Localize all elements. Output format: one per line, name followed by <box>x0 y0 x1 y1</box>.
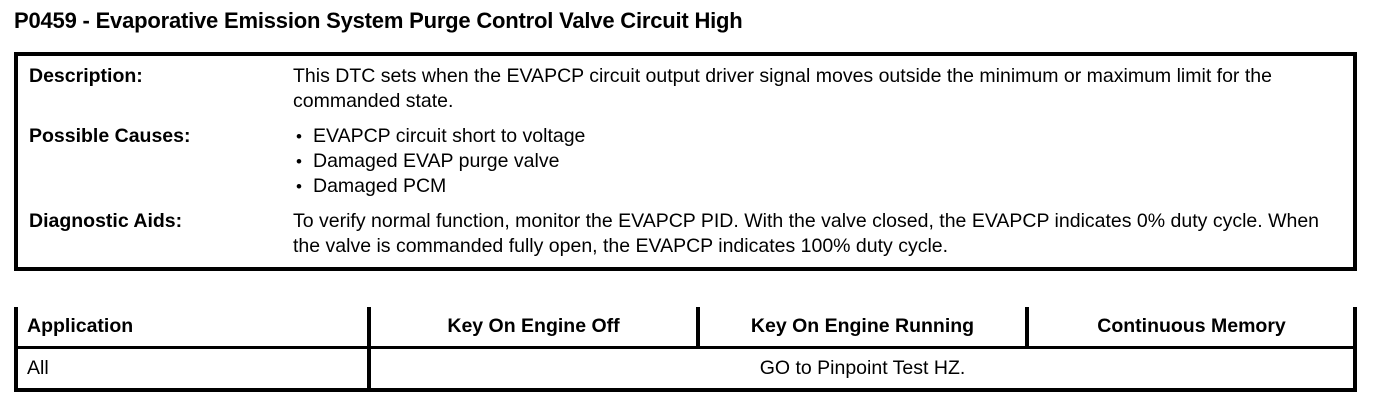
list-item: Damaged PCM <box>293 174 1337 199</box>
dtc-document-page: P0459 - Evaporative Emission System Purg… <box>0 0 1392 406</box>
description-label: Description: <box>18 64 293 89</box>
possible-causes-content: EVAPCP circuit short to voltage Damaged … <box>293 124 1353 199</box>
description-content: This DTC sets when the EVAPCP circuit ou… <box>293 64 1353 114</box>
dtc-info-box: Description: This DTC sets when the EVAP… <box>14 52 1357 271</box>
application-table-box: Application Key On Engine Off Key On Eng… <box>14 307 1357 392</box>
cell-result: GO to Pinpoint Test HZ. <box>369 348 1354 389</box>
column-header-continuous-memory: Continuous Memory <box>1027 307 1354 348</box>
diagnostic-aids-content: To verify normal function, monitor the E… <box>293 209 1353 259</box>
possible-causes-list: EVAPCP circuit short to voltage Damaged … <box>293 124 1337 199</box>
table-header-row: Application Key On Engine Off Key On Eng… <box>18 307 1354 348</box>
list-item: Damaged EVAP purge valve <box>293 149 1337 174</box>
list-item: EVAPCP circuit short to voltage <box>293 124 1337 149</box>
page-title: P0459 - Evaporative Emission System Purg… <box>14 8 743 34</box>
table-row: All GO to Pinpoint Test HZ. <box>18 348 1354 389</box>
cell-application: All <box>18 348 369 389</box>
column-header-application: Application <box>18 307 369 348</box>
info-row-possible-causes: Possible Causes: EVAPCP circuit short to… <box>18 114 1353 199</box>
application-table: Application Key On Engine Off Key On Eng… <box>18 307 1354 388</box>
possible-causes-label: Possible Causes: <box>18 124 293 149</box>
info-row-diagnostic-aids: Diagnostic Aids: To verify normal functi… <box>18 199 1353 267</box>
column-header-key-on-engine-running: Key On Engine Running <box>698 307 1027 348</box>
diagnostic-aids-label: Diagnostic Aids: <box>18 209 293 234</box>
column-header-key-on-engine-off: Key On Engine Off <box>369 307 698 348</box>
description-text: This DTC sets when the EVAPCP circuit ou… <box>293 64 1337 114</box>
diagnostic-aids-text: To verify normal function, monitor the E… <box>293 209 1337 259</box>
info-row-description: Description: This DTC sets when the EVAP… <box>18 56 1353 114</box>
